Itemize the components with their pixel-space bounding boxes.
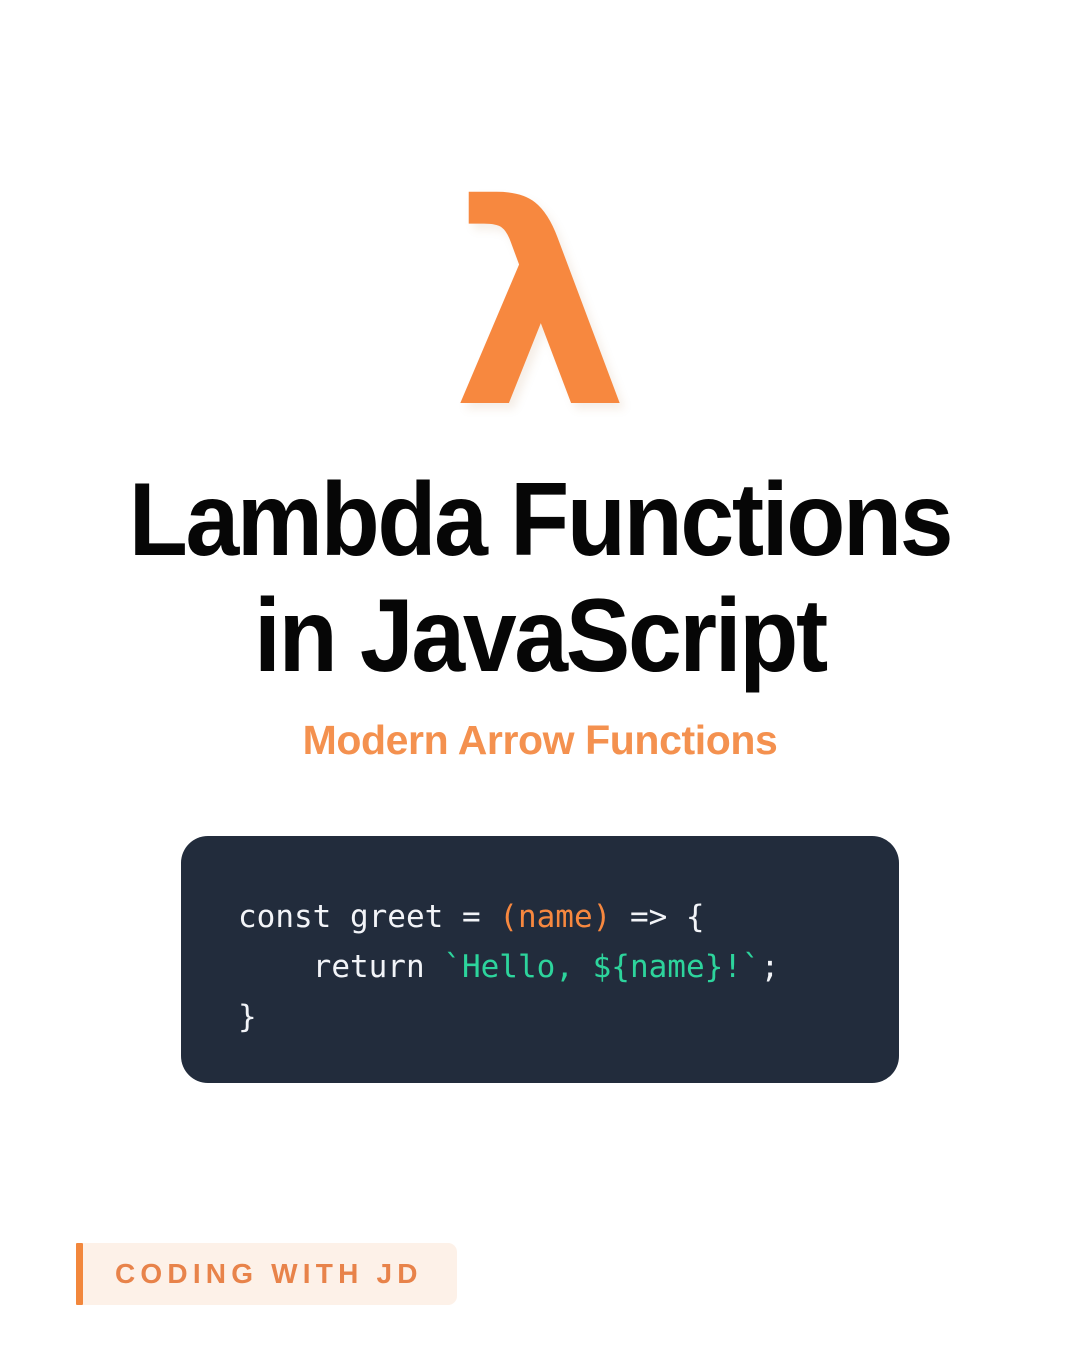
code-token-plain: return [238,949,443,985]
code-line: } [238,992,899,1042]
lambda-icon: λ [452,168,628,446]
poster-canvas: λ Lambda Functions in JavaScript Modern … [0,0,1080,1350]
code-token-param: (name) [499,899,611,935]
code-token-string: `Hello, ${name}!` [443,949,760,985]
code-token-plain: const greet = [238,899,499,935]
hero-lambda-mark: λ [0,168,1080,446]
brand-accent-bar [76,1243,83,1305]
brand-badge: CODING WITH JD [76,1243,457,1305]
page-title-line-2: in JavaScript [38,578,1042,694]
code-token-plain: } [238,999,257,1035]
brand-pill: CODING WITH JD [83,1243,457,1305]
code-token-plain: ; [761,949,780,985]
page-subtitle: Modern Arrow Functions [0,714,1080,766]
brand-name-label: CODING WITH JD [115,1258,423,1290]
code-line: return `Hello, ${name}!`; [238,942,899,992]
code-lines: const greet = (name) => { return `Hello,… [238,892,899,1042]
code-token-plain: => { [611,899,704,935]
code-line: const greet = (name) => { [238,892,899,942]
page-title: Lambda Functions in JavaScript [0,462,1080,694]
page-title-line-1: Lambda Functions [38,462,1042,578]
code-block: const greet = (name) => { return `Hello,… [181,836,899,1083]
